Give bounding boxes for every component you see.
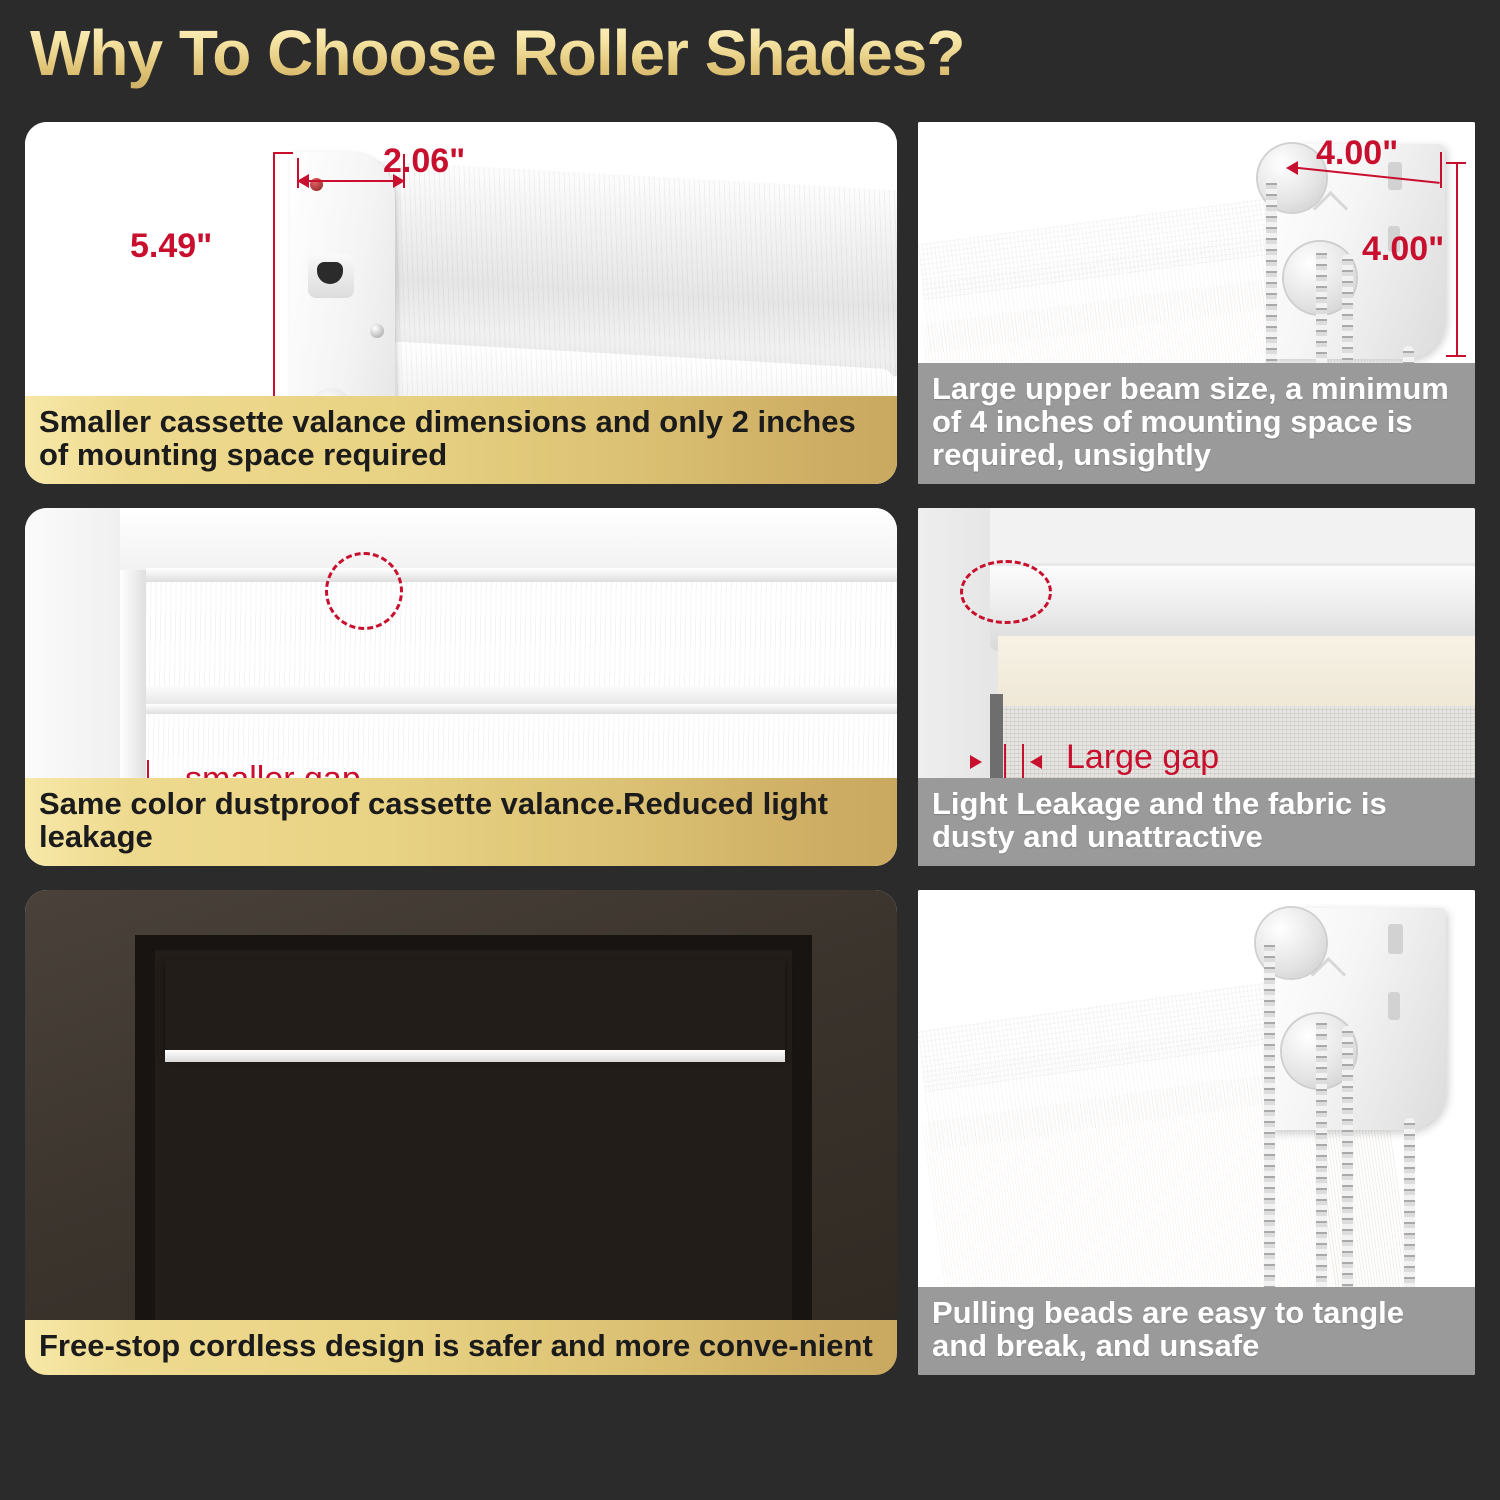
panel-2-caption: Large upper beam size, a minimum of 4 in… [918,363,1475,484]
panel-3-caption: Same color dustproof cassette valance.Re… [25,778,897,866]
valance-rail-top [146,568,897,582]
panel-bad-large-beam: 4.00" 4.00" Large upper beam size, a min… [918,122,1475,484]
panel-5-caption: Free-stop cordless design is safer and m… [25,1320,897,1375]
window-frame-top [120,508,897,570]
gap-marker-line-b [1022,744,1024,780]
bracket-slot-icon [308,254,354,298]
valance-rail-mid [146,686,897,706]
gap-highlight-circle [325,552,403,630]
ceiling-surface [918,508,1475,563]
width-dimension-label: 2.06" [383,142,465,181]
panel-bad-bead-chains: Pulling beads are easy to tangle and bre… [918,890,1475,1375]
panel-5-photo [25,890,897,1375]
width-dim-tick-left [297,158,299,188]
gap-arrow-left [1030,755,1042,769]
gap-marker-line-a [1004,744,1006,780]
beam-width-tick [1440,152,1442,188]
bracket-slot-top-icon [1388,924,1403,954]
panel-good-small-gap: smaller gap Same color dustproof cassett… [25,508,897,866]
valance-lip [165,1050,785,1062]
beam-width-arrow-left [1286,161,1298,175]
valance-rail-lower [146,704,897,714]
beam-height-dim-line [1456,162,1458,357]
panel-good-cassette-size: 2.06" 5.49" Smaller cassette valance dim… [25,122,897,484]
cassette-valance [165,960,785,1055]
gap-highlight-circle [960,560,1052,624]
beam-width-label: 4.00" [1316,134,1398,173]
rolled-fabric [167,1062,783,1124]
large-gap-label: Large gap [1066,738,1219,777]
panel-bad-light-leakage: Large gap Light Leakage and the fabric i… [918,508,1475,866]
gap-arrow-right [970,755,982,769]
beam-height-label: 4.00" [1362,230,1444,269]
beam-height-tick-bottom [1446,355,1466,357]
bracket-slot-mid-icon [1388,992,1400,1020]
panel-1-caption: Smaller cassette valance dimensions and … [25,396,897,484]
bracket-screw-icon [370,324,384,338]
beam-height-tick-top [1446,162,1466,164]
page-title: Why To Choose Roller Shades? [30,16,964,90]
panel-6-caption: Pulling beads are easy to tangle and bre… [918,1287,1475,1375]
panel-good-cordless: Free-stop cordless design is safer and m… [25,890,897,1375]
panel-4-caption: Light Leakage and the fabric is dusty an… [918,778,1475,866]
cream-fabric-band [998,636,1475,706]
height-dimension-label: 5.49" [130,227,212,266]
height-dim-tick-top [273,152,293,154]
